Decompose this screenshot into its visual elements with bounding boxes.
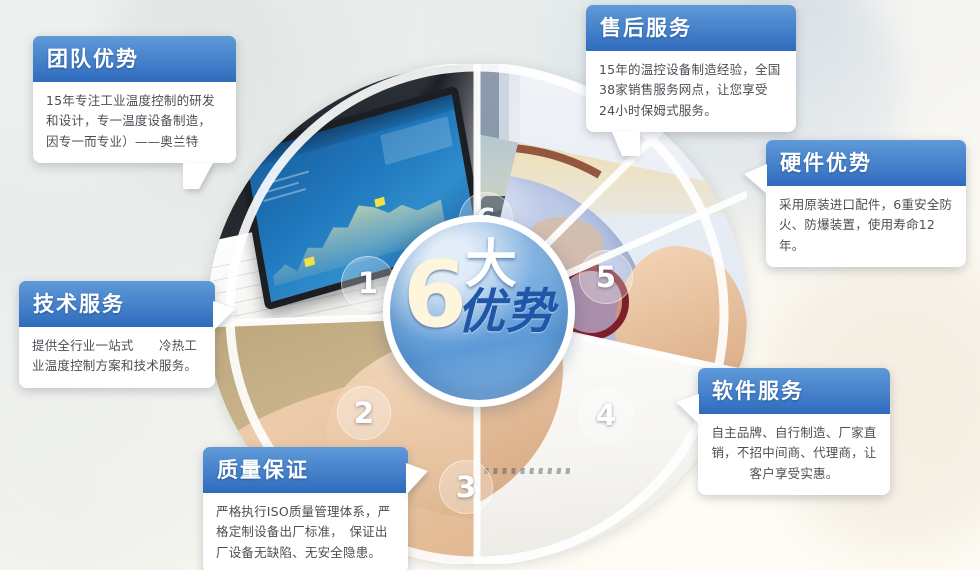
center-badge[interactable]: 6 大 优势 [383,215,575,407]
callout-tail [213,301,235,331]
callout-body: 提供全行业一站式 冷热工业温度控制方案和技术服务。 [19,327,215,388]
callout-tail [183,163,213,189]
callout-title: 硬件优势 [766,140,966,186]
callout-body: 采用原装进口配件，6重安全防火、防爆装置，使用寿命12年。 [766,186,966,267]
center-badge-text: 6 大 优势 [383,215,575,407]
callout-tail [612,132,640,156]
badge-5[interactable]: 5 [579,250,633,304]
callout-body: 15年的温控设备制造经验，全国38家销售服务网点，让您享受24小时保姆式服务。 [586,51,796,132]
callout-after-sales[interactable]: 售后服务 15年的温控设备制造经验，全国38家销售服务网点，让您享受24小时保姆… [586,5,796,132]
callout-technical[interactable]: 技术服务 提供全行业一站式 冷热工业温度控制方案和技术服务。 [19,281,215,388]
callout-software[interactable]: 软件服务 自主品牌、自行制造、厂家直销，不招中间商、代理商，让客户享受实惠。 [698,368,890,495]
callout-team-advantage[interactable]: 团队优势 15年专注工业温度控制的研发和设计，专一温度设备制造，因专一而专业）—… [33,36,236,163]
callout-tail [676,394,699,424]
callout-body: 自主品牌、自行制造、厂家直销，不招中间商、代理商，让客户享受实惠。 [698,414,890,495]
center-script-word: 优势 [457,287,555,337]
callout-title: 团队优势 [33,36,236,82]
badge-3[interactable]: 3 [439,460,493,514]
callout-hardware[interactable]: 硬件优势 采用原装进口配件，6重安全防火、防爆装置，使用寿命12年。 [766,140,966,267]
callout-title: 质量保证 [203,447,408,493]
badge-4[interactable]: 4 [579,388,633,442]
callout-quality[interactable]: 质量保证 严格执行ISO质量管理体系，严格定制设备出厂标准， 保证出厂设备无缺陷… [203,447,408,570]
infographic-canvas: 1 2 3 4 5 6 6 大 优势 团队优势 15年专注工业温度控制的研发和设… [0,0,980,570]
callout-title: 售后服务 [586,5,796,51]
callout-title: 技术服务 [19,281,215,327]
callout-body: 严格执行ISO质量管理体系，严格定制设备出厂标准， 保证出厂设备无缺陷、无安全隐… [203,493,408,570]
callout-body: 15年专注工业温度控制的研发和设计，专一温度设备制造，因专一而专业）——奥兰特 [33,82,236,163]
callout-tail [744,164,767,194]
callout-title: 软件服务 [698,368,890,414]
callout-tail [406,463,428,495]
